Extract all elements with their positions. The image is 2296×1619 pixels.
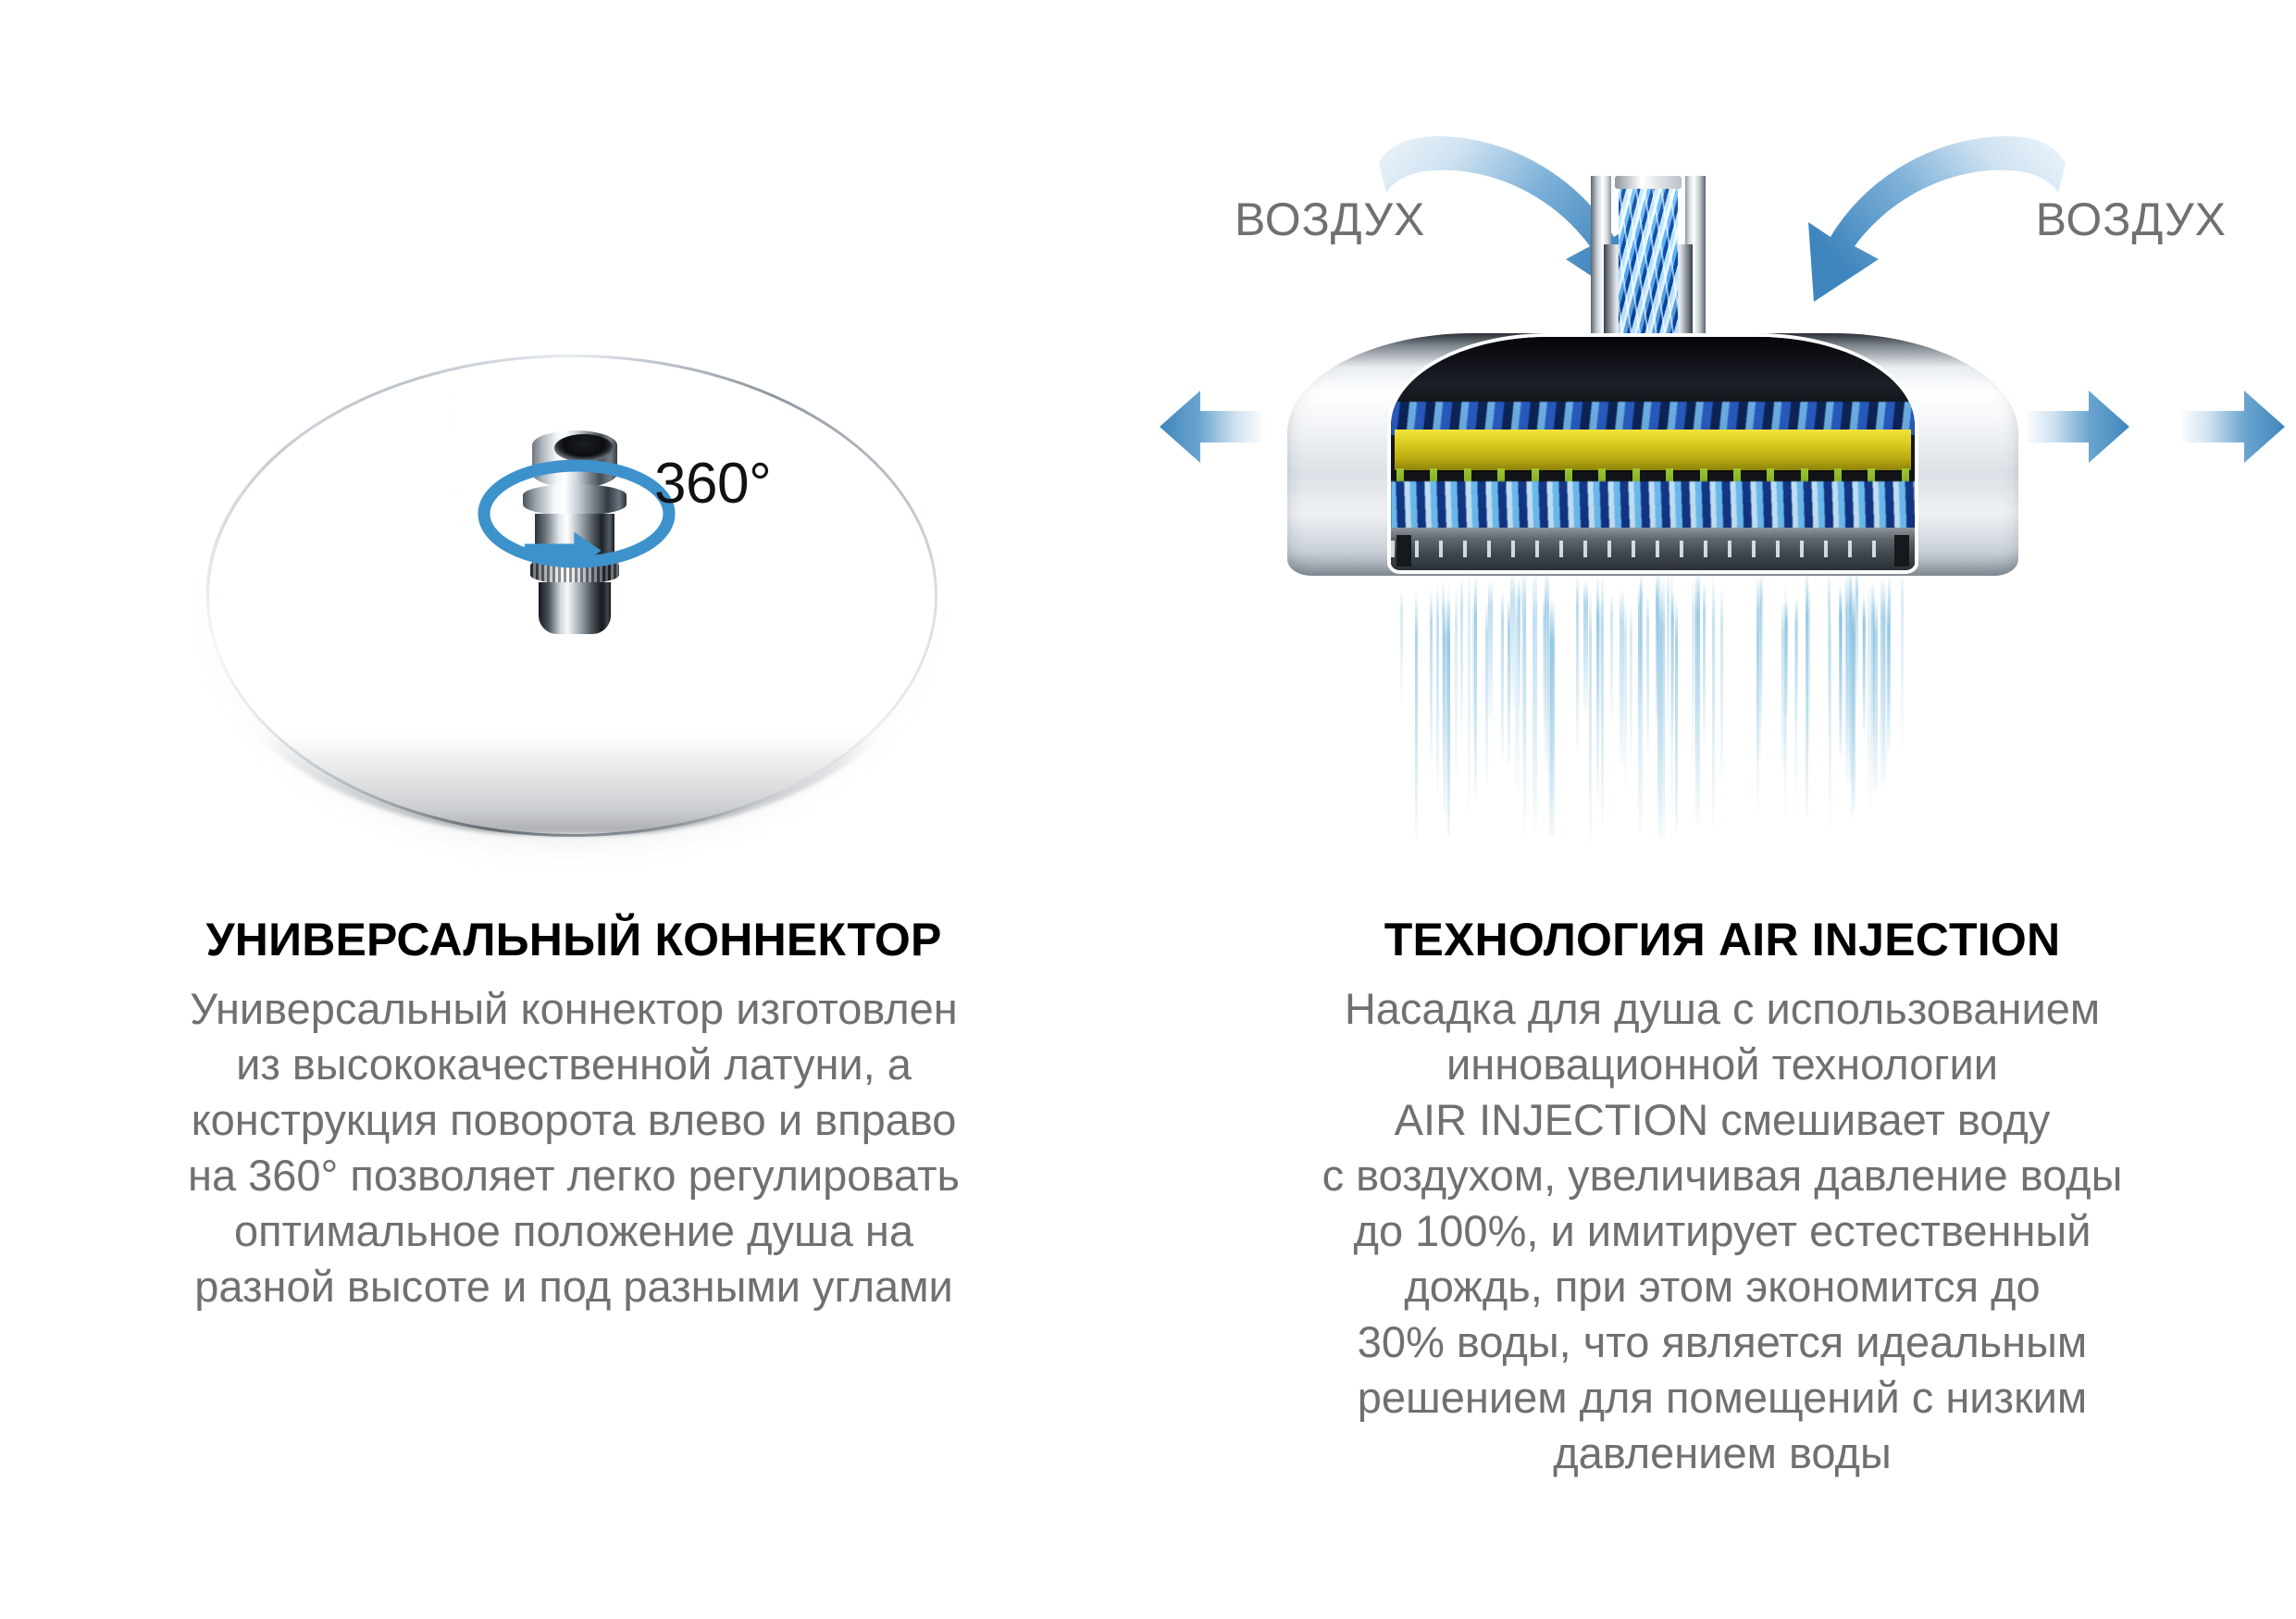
water-stream — [1442, 581, 1445, 746]
water-stream — [1846, 599, 1849, 753]
paragraph-line: Универсальный коннектор изготовлен — [167, 981, 981, 1037]
rotation-degree-label: 360° — [654, 451, 771, 517]
infographic-canvas: 360° УНИВЕРСАЛЬНЫЙ КОННЕКТОР Универсальн… — [0, 0, 2296, 1619]
paragraph-air-injection: Насадка для душа с использованием иннова… — [1315, 981, 2129, 1481]
water-stream — [1720, 589, 1723, 782]
water-stream — [1840, 592, 1843, 756]
water-stream — [1430, 592, 1433, 762]
water-stream — [1760, 573, 1763, 722]
curved-air-intake-arrow-icon — [1764, 130, 2069, 305]
water-stream — [1646, 595, 1649, 753]
paragraph-line: дождь, при этом экономится до — [1315, 1259, 2129, 1314]
water-stream — [1712, 577, 1715, 827]
water-stream — [1630, 604, 1632, 769]
water-stream — [1784, 585, 1787, 817]
water-stream — [1795, 599, 1798, 724]
water-stream — [1880, 579, 1885, 786]
yellow-distribution-plate — [1395, 430, 1911, 470]
water-stream — [1518, 579, 1520, 706]
water-stream — [1523, 577, 1526, 835]
water-stream — [1589, 592, 1592, 842]
text-block-air-injection: ТЕХНОЛОГИЯ AIR INJECTION Насадка для душ… — [1148, 913, 2296, 1481]
water-stream — [1624, 602, 1627, 788]
water-stream — [1436, 584, 1439, 792]
panel-air-injection: ВОЗДУХ ВОЗДУХ — [1148, 0, 2296, 1619]
block-arrow-right-icon — [2022, 387, 2131, 467]
paragraph-line: Насадка для душа с использованием — [1315, 981, 2129, 1037]
paragraph-line: давлением воды — [1315, 1426, 2129, 1481]
heading-air-injection: ТЕХНОЛОГИЯ AIR INJECTION — [1148, 913, 2296, 966]
water-stream — [1671, 592, 1674, 734]
water-stream — [1510, 573, 1515, 711]
paragraph-line: с воздухом, увеличивая давление воды — [1315, 1148, 2129, 1203]
paragraph-line: AIR INJECTION смешивает воду — [1315, 1092, 2129, 1148]
water-stream — [1888, 575, 1891, 714]
chrome-threaded-connector-icon — [523, 430, 627, 634]
face-edge-left — [1396, 535, 1411, 567]
block-arrow-left-icon — [1158, 387, 1267, 467]
water-stream — [1862, 594, 1865, 727]
water-stream — [1488, 581, 1493, 719]
water-stream — [1620, 590, 1624, 766]
water-stream — [1829, 604, 1831, 827]
tube-cap — [1615, 176, 1682, 189]
water-stream — [1447, 599, 1450, 836]
water-stream — [1697, 576, 1700, 707]
water-stream — [1601, 577, 1604, 825]
figure-shower-disc: 360° — [0, 0, 1148, 889]
text-block-universal-connector: УНИВЕРСАЛЬНЫЙ КОННЕКТОР Универсальный ко… — [0, 913, 1148, 1314]
water-stream — [1501, 591, 1504, 760]
paragraph-line: разной высоте и под разными углами — [167, 1259, 981, 1314]
panel-universal-connector: 360° УНИВЕРСАЛЬНЫЙ КОННЕКТОР Универсальн… — [0, 0, 1148, 1619]
cutaway-interior — [1391, 337, 1915, 570]
spray-face-plate — [1391, 528, 1915, 570]
water-stream — [1675, 600, 1678, 829]
paragraph-line: до 100%, и имитирует естественный — [1315, 1203, 2129, 1259]
paragraph-line: инновационной технологии — [1315, 1037, 2129, 1092]
water-stream — [1415, 592, 1418, 837]
water-stream — [1576, 575, 1579, 750]
shower-head-disc: 360° — [199, 347, 939, 870]
water-stream — [1400, 591, 1403, 704]
paragraph-line: 30% воды, что является идеальным — [1315, 1314, 2129, 1370]
connector-shaft — [535, 514, 614, 558]
water-stream — [1807, 585, 1810, 755]
water-stream — [1583, 581, 1588, 711]
water-stream — [1472, 593, 1475, 758]
face-edge-right — [1894, 535, 1909, 567]
water-stream — [1855, 568, 1858, 703]
water-stream — [1485, 602, 1488, 785]
water-stream — [1667, 573, 1669, 729]
paragraph-line: конструкция поворота влево и вправо — [167, 1092, 981, 1148]
water-stream — [1550, 601, 1555, 835]
connector-top-ring — [532, 430, 617, 488]
connector-knurled-nut — [530, 556, 619, 584]
interior-water-layer — [1391, 481, 1915, 529]
water-stream — [1868, 586, 1872, 807]
water-stream — [1901, 570, 1904, 746]
connector-collar — [523, 484, 627, 516]
water-stream — [1533, 570, 1537, 829]
paragraph-line: из высококачественной латуни, а — [167, 1037, 981, 1092]
water-stream — [1657, 590, 1662, 838]
water-stream — [1455, 587, 1458, 778]
paragraph-line: на 360° позволяет легко регулировать — [167, 1148, 981, 1203]
figure-air-injection: ВОЗДУХ ВОЗДУХ — [1148, 0, 2296, 889]
paragraph-line: решением для помещений с низким — [1315, 1370, 2129, 1426]
shower-head-cutaway-body — [1287, 326, 2018, 576]
heading-universal-connector: УНИВЕРСАЛЬНЫЙ КОННЕКТОР — [0, 913, 1148, 966]
falling-water-spray-icon — [1396, 567, 1915, 844]
water-stream — [1638, 582, 1641, 725]
water-stream — [1703, 582, 1706, 742]
block-arrow-right-icon — [2178, 387, 2287, 467]
water-stream — [1610, 592, 1613, 724]
connector-bore — [554, 434, 614, 462]
connector-base — [539, 582, 611, 634]
water-stream — [1873, 600, 1878, 791]
water-stream — [1460, 578, 1463, 735]
paragraph-line: оптимальное положение душа на — [167, 1203, 981, 1259]
water-stream — [1545, 571, 1549, 771]
paragraph-universal-connector: Универсальный коннектор изготовлен из вы… — [167, 981, 981, 1314]
water-stream — [1468, 570, 1471, 818]
